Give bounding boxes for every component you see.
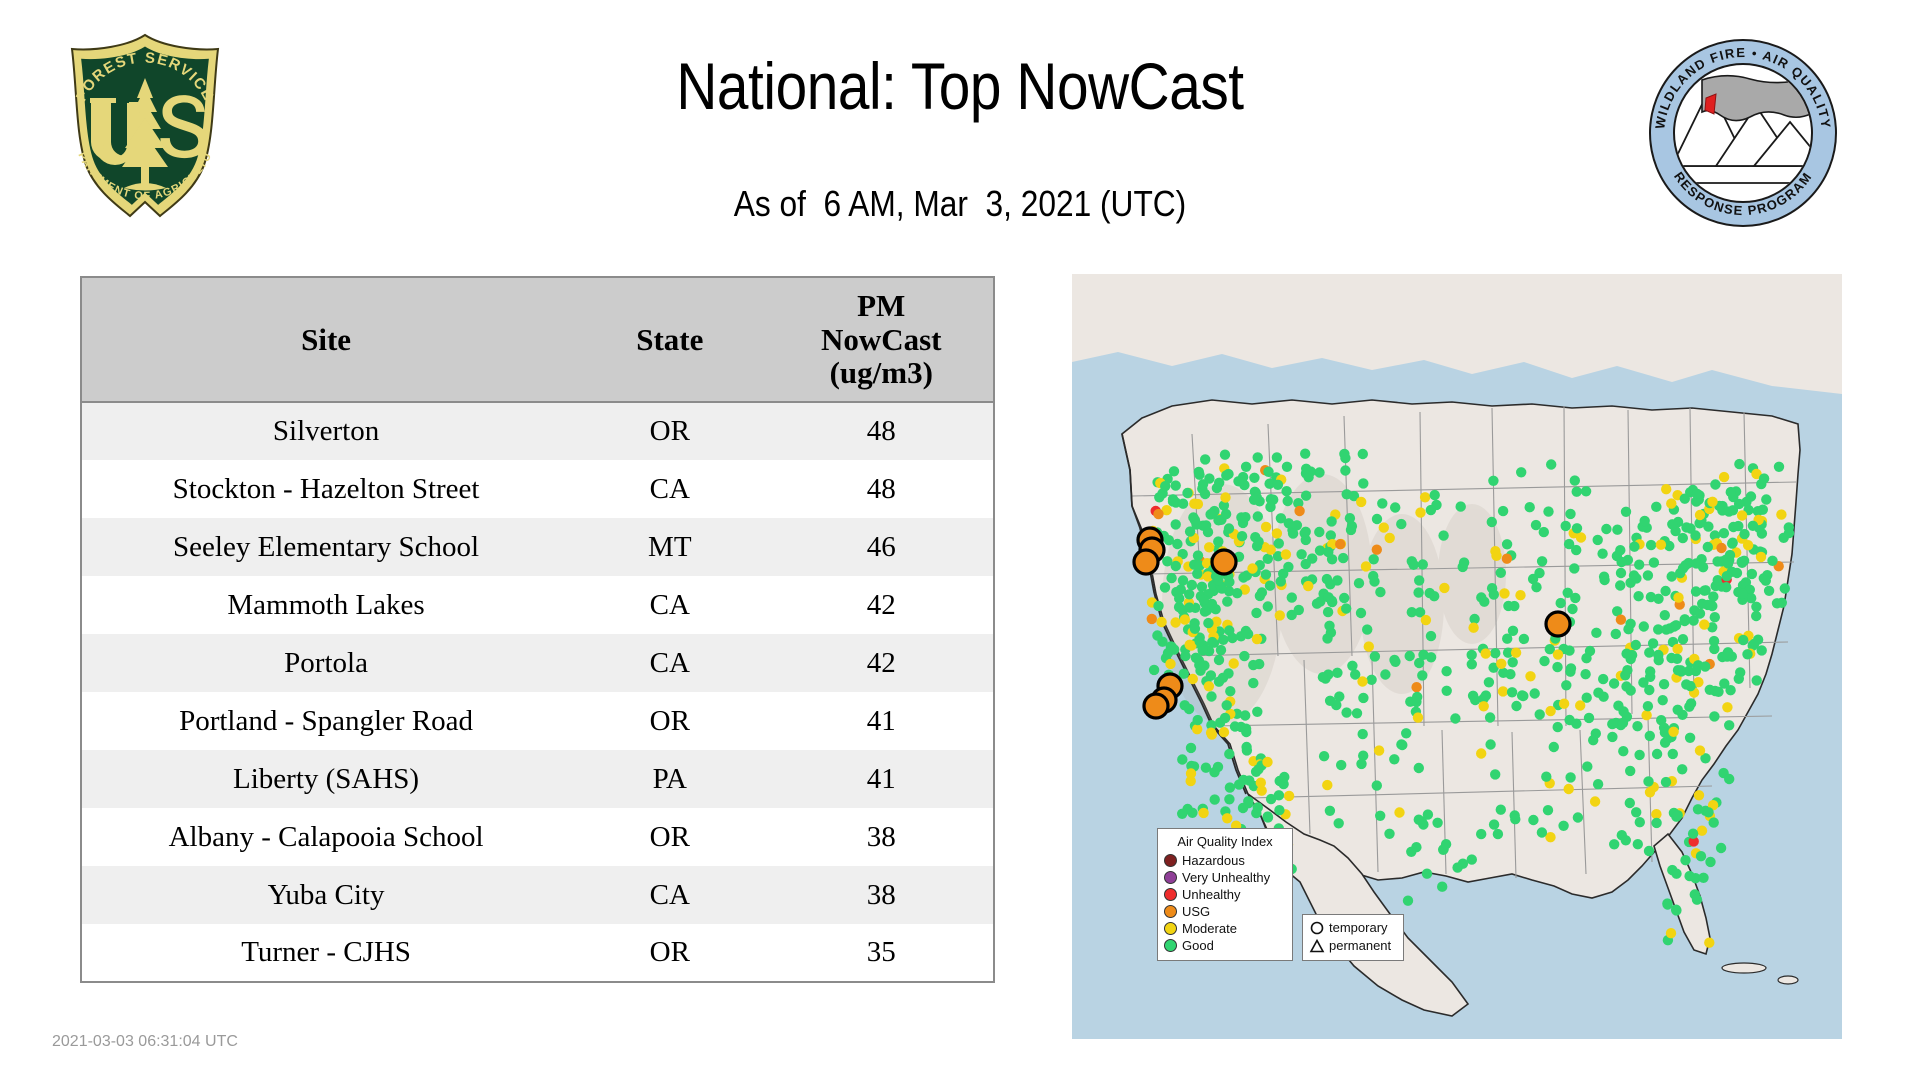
aqi-monitor-dot <box>1187 580 1197 590</box>
aqi-monitor-dot <box>1222 700 1232 710</box>
aqi-monitor-dot <box>1685 733 1695 743</box>
aqi-monitor-dot <box>1334 691 1344 701</box>
aqi-monitor-dot <box>1539 527 1549 537</box>
table-row[interactable]: Yuba CityCA38 <box>81 866 994 924</box>
aqi-monitor-dot <box>1394 807 1404 817</box>
aqi-monitor-dot <box>1332 575 1342 585</box>
aqi-monitor-dot <box>1660 610 1670 620</box>
table-cell-site: Turner - CJHS <box>81 924 570 982</box>
aqi-monitor-dot <box>1411 682 1421 692</box>
aqi-monitor-dot <box>1335 539 1345 549</box>
aqi-monitor-dot <box>1326 516 1336 526</box>
aqi-monitor-dot <box>1426 505 1436 515</box>
aqi-monitor-dot <box>1539 656 1549 666</box>
aqi-monitor-dot <box>1218 635 1228 645</box>
aqi-monitor-dot <box>1553 649 1563 659</box>
aqi-monitor-dot <box>1397 740 1407 750</box>
aqi-monitor-dot <box>1319 751 1329 761</box>
table-cell-state: CA <box>570 460 769 518</box>
aqi-monitor-dot <box>1220 713 1230 723</box>
aqi-monitor-dot <box>1450 713 1460 723</box>
table-cell-state: OR <box>570 402 769 460</box>
aqi-monitor-dot <box>1296 549 1306 559</box>
aqi-monitor-dot <box>1570 475 1580 485</box>
aqi-monitor-dot <box>1776 509 1786 519</box>
aqi-monitor-dot <box>1567 604 1577 614</box>
aqi-monitor-dot <box>1193 499 1203 509</box>
table-row[interactable]: PortolaCA42 <box>81 634 994 692</box>
aqi-monitor-dot <box>1641 710 1651 720</box>
table-row[interactable]: Mammoth LakesCA42 <box>81 576 994 634</box>
aqi-monitor-dot <box>1389 655 1399 665</box>
aqi-monitor-dot <box>1255 591 1265 601</box>
aqi-monitor-dot <box>1207 729 1217 739</box>
column-header-pm-nowcast[interactable]: PM NowCast (ug/m3) <box>769 277 994 402</box>
aqi-monitor-dot <box>1724 720 1734 730</box>
aqi-monitor-dot <box>1356 497 1366 507</box>
aqi-monitor-dot <box>1225 782 1235 792</box>
aqi-monitor-dot <box>1274 805 1284 815</box>
aqi-monitor-dot <box>1507 687 1517 697</box>
aqi-monitor-dot <box>1276 576 1286 586</box>
table-cell-value: 46 <box>769 518 994 576</box>
top-site-marker[interactable] <box>1144 694 1168 718</box>
aqi-monitor-dot <box>1661 777 1671 787</box>
aqi-monitor-dot <box>1219 727 1229 737</box>
aqi-monitor-dot <box>1572 523 1582 533</box>
aqi-monitor-dot <box>1732 568 1742 578</box>
aqi-monitor-dot <box>1673 705 1683 715</box>
aqi-monitor-dot <box>1171 480 1181 490</box>
aqi-monitor-dot <box>1188 674 1198 684</box>
aqi-monitor-dot <box>1350 669 1360 679</box>
aqi-monitor-dot <box>1244 775 1254 785</box>
aqi-monitor-dot <box>1601 524 1611 534</box>
aqi-monitor-dot <box>1240 710 1250 720</box>
aqi-monitor-dot <box>1535 709 1545 719</box>
aqi-monitor-dot <box>1413 712 1423 722</box>
aqi-monitor-dot <box>1185 640 1195 650</box>
table-cell-value: 48 <box>769 402 994 460</box>
aqi-monitor-dot <box>1625 798 1635 808</box>
aqi-monitor-dot <box>1633 591 1643 601</box>
aqi-monitor-dot <box>1339 593 1349 603</box>
aqi-monitor-dot <box>1690 530 1700 540</box>
aqi-monitor-dot <box>1193 715 1203 725</box>
table-cell-site: Stockton - Hazelton Street <box>81 460 570 518</box>
aqi-monitor-dot <box>1695 510 1705 520</box>
aqi-monitor-dot <box>1716 543 1726 553</box>
aqi-monitor-dot <box>1575 700 1585 710</box>
aqi-monitor-dot <box>1616 615 1626 625</box>
aqi-monitor-dot <box>1193 550 1203 560</box>
aqi-monitor-dot <box>1216 645 1226 655</box>
aqi-legend-label: USG <box>1182 905 1210 919</box>
aqi-monitor-dot <box>1414 815 1424 825</box>
aqi-monitor-dot <box>1699 619 1709 629</box>
aqi-monitor-dot <box>1698 873 1708 883</box>
aqi-monitor-dot <box>1274 790 1284 800</box>
aqi-monitor-dot <box>1569 563 1579 573</box>
aqi-monitor-dot <box>1691 586 1701 596</box>
aqi-monitor-dot <box>1656 540 1666 550</box>
aqi-monitor-dot <box>1493 829 1503 839</box>
aqi-monitor-dot <box>1719 678 1729 688</box>
aqi-monitor-dot <box>1666 498 1676 508</box>
aqi-monitor-dot <box>1199 660 1209 670</box>
aqi-monitor-dot <box>1263 554 1273 564</box>
aqi-monitor-dot <box>1340 465 1350 475</box>
aqi-monitor-dot <box>1192 569 1202 579</box>
aqi-monitor-dot <box>1221 470 1231 480</box>
aqi-monitor-dot <box>1673 592 1683 602</box>
table-row[interactable]: Seeley Elementary SchoolMT46 <box>81 518 994 576</box>
slide-root: FOREST SERVICE DEPARTMENT OF AGRICULTURE <box>0 0 1920 1080</box>
aqi-monitor-dot <box>1233 476 1243 486</box>
aqi-monitor-dot <box>1645 666 1655 676</box>
aqi-monitor-dot <box>1324 621 1334 631</box>
table-row[interactable]: Turner - CJHSOR35 <box>81 924 994 982</box>
aqi-monitor-dot <box>1191 519 1201 529</box>
aqi-monitor-dot <box>1459 557 1469 567</box>
aqi-monitor-dot <box>1199 595 1209 605</box>
aqi-monitor-dot <box>1163 648 1173 658</box>
aqi-monitor-dot <box>1653 650 1663 660</box>
aqi-monitor-dot <box>1253 537 1263 547</box>
aqi-monitor-dot <box>1288 528 1298 538</box>
aqi-monitor-dot <box>1537 827 1547 837</box>
aqi-monitor-dot <box>1356 608 1366 618</box>
table-cell-site: Albany - Calapooia School <box>81 808 570 866</box>
aqi-monitor-dot <box>1275 610 1285 620</box>
aqi-monitor-dot <box>1220 450 1230 460</box>
aqi-monitor-dot <box>1767 556 1777 566</box>
aqi-monitor-dot <box>1666 928 1676 938</box>
aqi-monitor-dot <box>1249 473 1259 483</box>
aqi-monitor-dot <box>1739 529 1749 539</box>
aqi-monitor-dot <box>1496 568 1506 578</box>
aqi-monitor-dot <box>1209 767 1219 777</box>
aqi-monitor-dot <box>1549 742 1559 752</box>
column-header-site[interactable]: Site <box>81 277 570 402</box>
aqi-monitor-dot <box>1283 562 1293 572</box>
aqi-monitor-dot <box>1481 690 1491 700</box>
aqi-monitor-dot <box>1541 772 1551 782</box>
table-cell-value: 41 <box>769 750 994 808</box>
aqi-monitor-dot <box>1635 817 1645 827</box>
aqi-monitor-dot <box>1735 667 1745 677</box>
aqi-monitor-dot <box>1631 640 1641 650</box>
aqi-monitor-dot <box>1287 592 1297 602</box>
aqi-monitor-dot <box>1411 842 1421 852</box>
aqi-monitor-dot <box>1358 449 1368 459</box>
aqi-monitor-dot <box>1598 674 1608 684</box>
aqi-monitor-dot <box>1710 612 1720 622</box>
aqi-monitor-dot <box>1638 677 1648 687</box>
aqi-monitor-dot <box>1651 502 1661 512</box>
aqi-monitor-dot <box>1421 615 1431 625</box>
aqi-monitor-dot <box>1695 745 1705 755</box>
aqi-monitor-dot <box>1509 601 1519 611</box>
aqi-monitor-dot <box>1660 586 1670 596</box>
aqi-legend: Air Quality Index HazardousVery Unhealth… <box>1157 828 1293 961</box>
aqi-monitor-dot <box>1180 614 1190 624</box>
aqi-monitor-dot <box>1166 573 1176 583</box>
aqi-monitor-dot <box>1659 679 1669 689</box>
aqi-legend-row: USG <box>1164 903 1286 920</box>
top-site-marker[interactable] <box>1212 550 1236 574</box>
aqi-monitor-dot <box>1414 763 1424 773</box>
table-cell-site: Silverton <box>81 402 570 460</box>
aqi-legend-swatch-icon <box>1164 922 1177 935</box>
aqi-monitor-dot <box>1498 686 1508 696</box>
aqi-monitor-dot <box>1697 826 1707 836</box>
top-nowcast-table: Site State PM NowCast (ug/m3) SilvertonO… <box>80 276 995 983</box>
aqi-monitor-dot <box>1256 778 1266 788</box>
aqi-monitor-dot <box>1772 598 1782 608</box>
aqi-monitor-dot <box>1201 520 1211 530</box>
aqi-monitor-dot <box>1487 517 1497 527</box>
aqi-monitor-dot <box>1584 713 1594 723</box>
table-row[interactable]: SilvertonOR48 <box>81 402 994 460</box>
aqi-monitor-dot <box>1281 486 1291 496</box>
aqi-monitor-dot <box>1643 570 1653 580</box>
aqi-monitor-dot <box>1414 575 1424 585</box>
aqi-monitor-dot <box>1377 498 1387 508</box>
top-site-marker[interactable] <box>1134 550 1158 574</box>
aqi-monitor-dot <box>1263 467 1273 477</box>
aqi-monitor-dot <box>1645 787 1655 797</box>
aqi-monitor-dot <box>1559 699 1569 709</box>
aqi-monitor-dot <box>1511 701 1521 711</box>
aqi-monitor-dot <box>1263 601 1273 611</box>
aqi-monitor-dot <box>1180 651 1190 661</box>
aqi-monitor-dot <box>1692 895 1702 905</box>
table-cell-value: 38 <box>769 808 994 866</box>
aqi-legend-row: Very Unhealthy <box>1164 869 1286 886</box>
aqi-monitor-dot <box>1761 576 1771 586</box>
aqi-monitor-dot <box>1374 745 1384 755</box>
aqi-monitor-dot <box>1467 650 1477 660</box>
aqi-monitor-dot <box>1485 739 1495 749</box>
aqi-monitor-dot <box>1418 559 1428 569</box>
aqi-monitor-dot <box>1314 527 1324 537</box>
table-cell-site: Seeley Elementary School <box>81 518 570 576</box>
table-cell-state: OR <box>570 808 769 866</box>
table-cell-value: 35 <box>769 924 994 982</box>
aqi-monitor-dot <box>1238 803 1248 813</box>
aqi-monitor-dot <box>1467 659 1477 669</box>
aqi-monitor-dot <box>1369 576 1379 586</box>
aqi-monitor-dot <box>1703 542 1713 552</box>
aqi-monitor-dot <box>1719 528 1729 538</box>
aqi-monitor-dot <box>1265 581 1275 591</box>
circle-outline-icon <box>1309 920 1325 936</box>
aqi-monitor-dot <box>1241 462 1251 472</box>
table-cell-value: 42 <box>769 634 994 692</box>
aqi-monitor-dot <box>1726 487 1736 497</box>
aqi-monitor-dot <box>1621 507 1631 517</box>
aqi-monitor-dot <box>1171 519 1181 529</box>
aqi-monitor-dot <box>1358 729 1368 739</box>
aqi-monitor-dot <box>1738 635 1748 645</box>
aqi-monitor-dot <box>1334 818 1344 828</box>
column-header-line-1: PM <box>775 289 987 322</box>
aqi-monitor-dot <box>1437 882 1447 892</box>
aqi-legend-row: Unhealthy <box>1164 886 1286 903</box>
aqi-monitor-dot <box>1565 509 1575 519</box>
aqi-monitor-dot <box>1625 619 1635 629</box>
aqi-monitor-dot <box>1498 506 1508 516</box>
table-cell-site: Mammoth Lakes <box>81 576 570 634</box>
aqi-monitor-dot <box>1678 533 1688 543</box>
aqi-monitor-dot <box>1352 708 1362 718</box>
aqi-monitor-dot <box>1633 839 1643 849</box>
aqi-monitor-dot <box>1671 869 1681 879</box>
aqi-monitor-dot <box>1644 846 1654 856</box>
aqi-monitor-dot <box>1700 585 1710 595</box>
aqi-monitor-dot <box>1284 791 1294 801</box>
aqi-monitor-dot <box>1648 638 1658 648</box>
aqi-monitor-dot <box>1593 779 1603 789</box>
aqi-monitor-dot <box>1212 483 1222 493</box>
aqi-monitor-dot <box>1691 666 1701 676</box>
aqi-monitor-dot <box>1516 467 1526 477</box>
aqi-monitor-dot <box>1413 587 1423 597</box>
column-header-line-2: NowCast <box>775 323 987 356</box>
aqi-monitor-dot <box>1358 478 1368 488</box>
aqi-monitor-dot <box>1572 487 1582 497</box>
aqi-monitor-dot <box>1301 491 1311 501</box>
aqi-monitor-dot <box>1364 641 1374 651</box>
aqi-monitor-dot <box>1519 634 1529 644</box>
aqi-monitor-dot <box>1375 587 1385 597</box>
table-row[interactable]: Stockton - Hazelton StreetCA48 <box>81 460 994 518</box>
aqi-monitor-dot <box>1282 462 1292 472</box>
table-cell-state: OR <box>570 924 769 982</box>
aqi-monitor-dot <box>1301 535 1311 545</box>
aqi-monitor-dot <box>1573 812 1583 822</box>
top-site-marker[interactable] <box>1546 612 1570 636</box>
table-row[interactable]: Portland - Spangler RoadOR41 <box>81 692 994 750</box>
aqi-monitor-dot <box>1502 634 1512 644</box>
aqi-monitor-dot <box>1502 554 1512 564</box>
aqi-monitor-dot <box>1426 652 1436 662</box>
aqi-monitor-dot <box>1252 707 1262 717</box>
aqi-monitor-dot <box>1213 536 1223 546</box>
aqi-monitor-dot <box>1713 575 1723 585</box>
aqi-monitor-dot <box>1152 630 1162 640</box>
aqi-monitor-dot <box>1408 560 1418 570</box>
legend-label-temporary: temporary <box>1329 921 1388 935</box>
aqi-monitor-dot <box>1709 644 1719 654</box>
aqi-monitor-dot <box>1221 509 1231 519</box>
aqi-monitor-dot <box>1582 761 1592 771</box>
table-body: SilvertonOR48Stockton - Hazelton StreetC… <box>81 402 994 982</box>
aqi-monitor-dot <box>1263 812 1273 822</box>
aqi-monitor-dot <box>1346 525 1356 535</box>
aqi-monitor-dot <box>1247 563 1257 573</box>
aqi-monitor-dot <box>1761 494 1771 504</box>
table-cell-site: Liberty (SAHS) <box>81 750 570 808</box>
aqi-monitor-dot <box>1677 764 1687 774</box>
aqi-monitor-dot <box>1236 722 1246 732</box>
aqi-monitor-dot <box>1312 599 1322 609</box>
aqi-monitor-dot <box>1240 512 1250 522</box>
aqi-monitor-dot <box>1661 624 1671 634</box>
aqi-monitor-dot <box>1412 692 1422 702</box>
aqi-monitor-dot <box>1737 510 1747 520</box>
aqi-monitor-dot <box>1190 624 1200 634</box>
aqi-monitor-dot <box>1372 514 1382 524</box>
aqi-monitor-dot <box>1566 663 1576 673</box>
aqi-monitor-dot <box>1491 551 1501 561</box>
aqi-monitor-dot <box>1341 707 1351 717</box>
aqi-monitor-dot <box>1456 501 1466 511</box>
aqi-monitor-dot <box>1251 608 1261 618</box>
table-head: Site State PM NowCast (ug/m3) <box>81 277 994 402</box>
aqi-monitor-dot <box>1380 669 1390 679</box>
aqi-monitor-dot <box>1214 655 1224 665</box>
aqi-monitor-dot <box>1625 766 1635 776</box>
aqi-monitor-dot <box>1631 573 1641 583</box>
table-cell-site: Yuba City <box>81 866 570 924</box>
aqi-monitor-dot <box>1303 581 1313 591</box>
page-subtitle: As of 6 AM, Mar 3, 2021 (UTC) <box>115 183 1805 225</box>
aqi-monitor-dot <box>1372 545 1382 555</box>
aqi-monitor-dot <box>1634 750 1644 760</box>
aqi-monitor-dot <box>1214 677 1224 687</box>
aqi-monitor-dot <box>1225 686 1235 696</box>
aqi-monitor-dot <box>1672 644 1682 654</box>
aqi-monitor-dot <box>1616 557 1626 567</box>
aqi-monitor-dot <box>1737 558 1747 568</box>
aqi-monitor-dot <box>1618 718 1628 728</box>
aqi-monitor-dot <box>1336 760 1346 770</box>
aqi-monitor-dot <box>1671 905 1681 915</box>
aqi-monitor-dot <box>1561 680 1571 690</box>
national-aqi-map[interactable]: Air Quality Index HazardousVery Unhealth… <box>1072 274 1842 1039</box>
aqi-monitor-dot <box>1764 586 1774 596</box>
table-cell-state: PA <box>570 750 769 808</box>
aqi-monitor-dot <box>1345 513 1355 523</box>
aqi-legend-label: Hazardous <box>1182 854 1245 868</box>
aqi-monitor-dot <box>1644 647 1654 657</box>
aqi-monitor-dot <box>1476 748 1486 758</box>
aqi-monitor-dot <box>1646 540 1656 550</box>
aqi-monitor-dot <box>1599 572 1609 582</box>
aqi-monitor-dot <box>1489 819 1499 829</box>
aqi-monitor-dot <box>1678 563 1688 573</box>
aqi-monitor-dot <box>1204 681 1214 691</box>
aqi-monitor-dot <box>1576 532 1586 542</box>
table-row[interactable]: Albany - Calapooia SchoolOR38 <box>81 808 994 866</box>
aqi-monitor-dot <box>1678 634 1688 644</box>
table-row[interactable]: Liberty (SAHS)PA41 <box>81 750 994 808</box>
aqi-monitor-dot <box>1184 589 1194 599</box>
aqi-monitor-dot <box>1784 522 1794 532</box>
aqi-monitor-dot <box>1262 757 1272 767</box>
footer-timestamp: 2021-03-03 06:31:04 UTC <box>52 1033 238 1051</box>
aqi-monitor-dot <box>1627 650 1637 660</box>
column-header-state[interactable]: State <box>570 277 769 402</box>
aqi-monitor-dot <box>1294 506 1304 516</box>
aqi-monitor-dot <box>1200 489 1210 499</box>
aqi-monitor-dot <box>1340 453 1350 463</box>
aqi-monitor-dot <box>1239 651 1249 661</box>
aqi-monitor-dot <box>1222 813 1232 823</box>
table-cell-value: 48 <box>769 460 994 518</box>
